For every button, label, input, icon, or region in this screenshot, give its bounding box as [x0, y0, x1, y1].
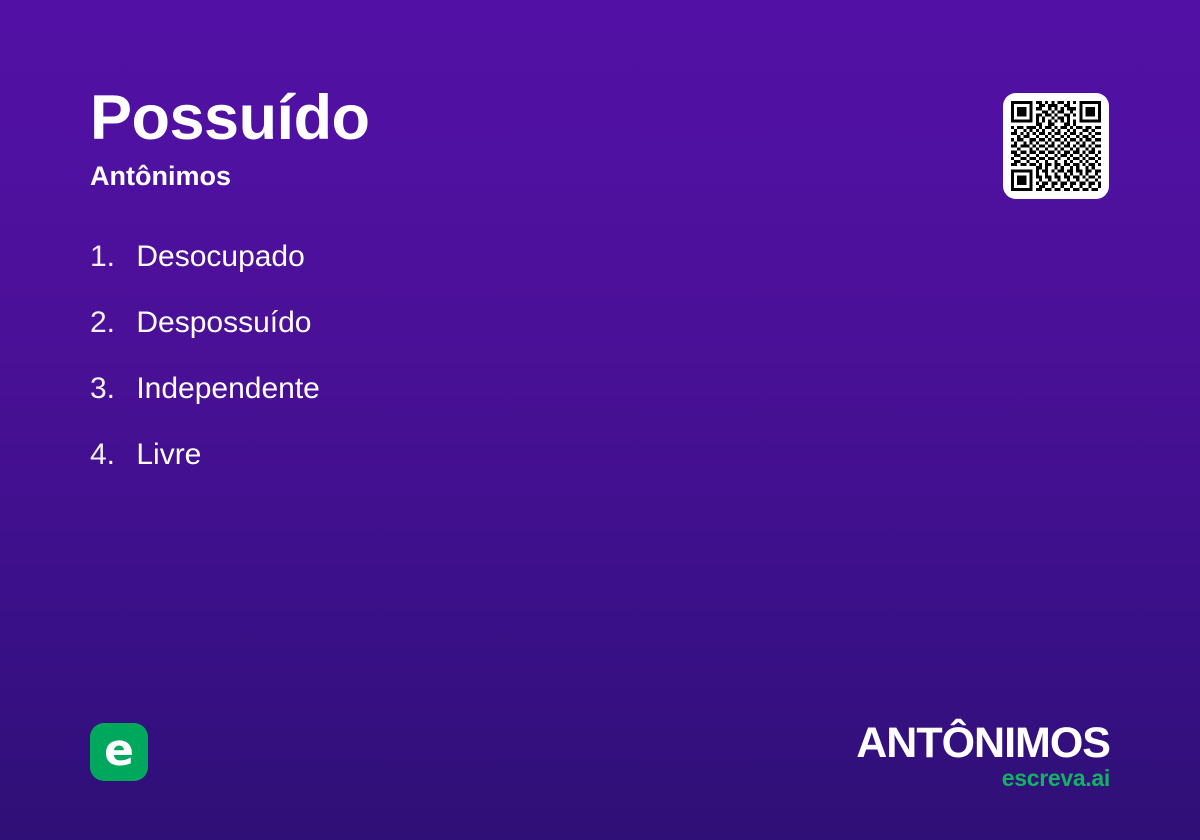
brand-title: ANTÔNIMOS [856, 722, 1110, 765]
brand-mark-letter: e [104, 729, 134, 773]
brand-site: escreva.ai [856, 766, 1110, 791]
header-block: Possuído Antônimos [90, 86, 850, 192]
section-label: Antônimos [90, 162, 850, 192]
brand-lockup: ANTÔNIMOS escreva.ai [856, 722, 1110, 791]
list-item-index: 3. [90, 370, 128, 408]
list-item: 1. Desocupado [90, 238, 890, 304]
list-item-term: Despossuído [136, 306, 311, 339]
page-title: Possuído [90, 86, 850, 150]
list-item-term: Independente [136, 372, 320, 405]
antonym-list: 1. Desocupado 2. Despossuído 3. Independ… [90, 238, 890, 502]
list-item-index: 2. [90, 304, 128, 342]
qr-code[interactable] [1003, 93, 1109, 199]
list-item: 3. Independente [90, 370, 890, 436]
list-item-index: 1. [90, 238, 128, 276]
list-item: 2. Despossuído [90, 304, 890, 370]
list-item: 4. Livre [90, 436, 890, 502]
list-item-term: Desocupado [136, 240, 304, 273]
escreva-logo-icon[interactable]: e [90, 723, 148, 781]
antonyms-card: Possuído Antônimos 1. Desocupado 2. Desp… [0, 0, 1200, 840]
list-item-term: Livre [136, 438, 201, 471]
list-item-index: 4. [90, 436, 128, 474]
qr-code-icon [1011, 101, 1101, 191]
